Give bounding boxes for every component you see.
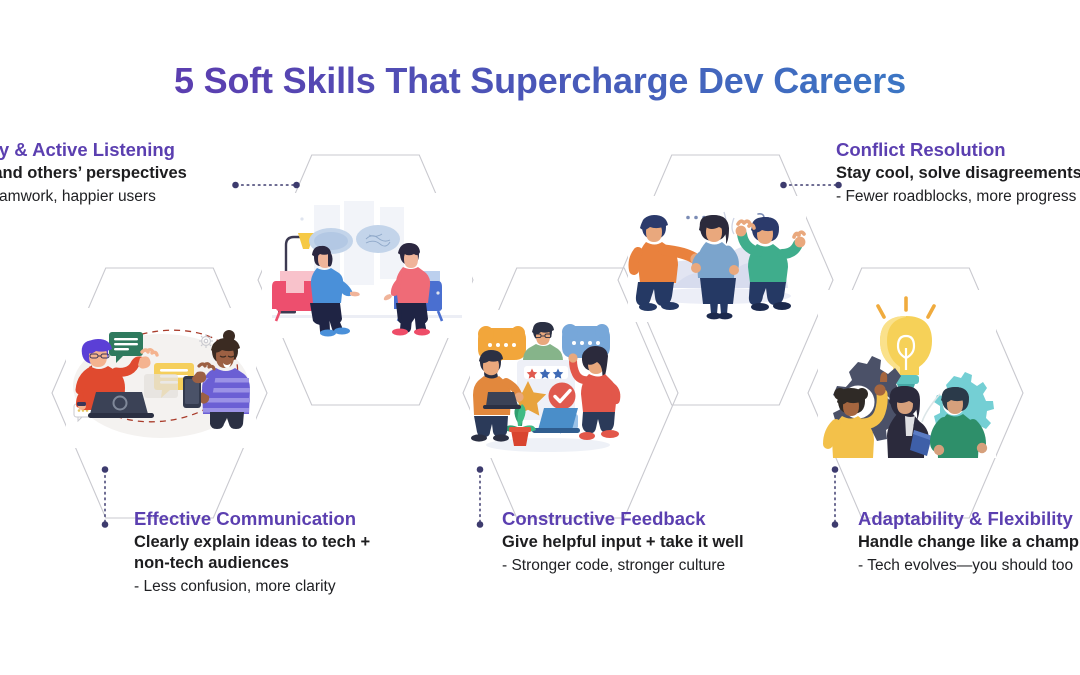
skill-block-empathy: Empathy & Active Listening Understand ot… bbox=[0, 139, 231, 206]
connector-feedback bbox=[473, 466, 487, 528]
skill-block-communication: Effective Communication Clearly explain … bbox=[134, 508, 434, 596]
skill-block-feedback: Constructive Feedback Give helpful input… bbox=[502, 508, 802, 575]
skill-sub-adaptability: - Tech evolves—you should too bbox=[858, 556, 1080, 575]
skill-heading-adaptability: Adaptability & Flexibility bbox=[858, 508, 1080, 530]
connector-conflict bbox=[780, 178, 842, 192]
connector-adaptability bbox=[828, 466, 842, 528]
skill-main-feedback: Give helpful input + take it well bbox=[502, 532, 802, 553]
skill-main-empathy: Understand others’ perspectives bbox=[0, 163, 231, 184]
infographic-canvas: 5 Soft Skills That Supercharge Dev Caree… bbox=[0, 0, 1080, 675]
skill-main-adaptability: Handle change like a champ bbox=[858, 532, 1080, 553]
two-people-talking-armchairs-illustration bbox=[262, 193, 472, 338]
skill-sub-communication: - Less confusion, more clarity bbox=[134, 577, 434, 596]
gears-lightbulb-three-people-illustration bbox=[818, 290, 996, 458]
skill-heading-feedback: Constructive Feedback bbox=[502, 508, 802, 530]
skill-block-conflict: Conflict Resolution Stay cool, solve dis… bbox=[836, 139, 1080, 206]
connector-empathy bbox=[232, 178, 300, 192]
connector-communication bbox=[98, 466, 112, 528]
skill-heading-conflict: Conflict Resolution bbox=[836, 139, 1080, 161]
man-laptop-woman-phone-chat-bubbles-illustration bbox=[66, 308, 256, 448]
skill-heading-communication: Effective Communication bbox=[134, 508, 434, 530]
skill-main-conflict: Stay cool, solve disagreements bbox=[836, 163, 1080, 184]
skill-sub-empathy: - Better teamwork, happier users bbox=[0, 187, 231, 206]
skill-main-communication-line2: non-tech audiences bbox=[134, 553, 434, 574]
skill-heading-empathy: Empathy & Active Listening bbox=[0, 139, 231, 161]
review-stars-checkmark-feedback-illustration bbox=[470, 310, 626, 458]
skill-sub-feedback: - Stronger code, stronger culture bbox=[502, 556, 802, 575]
skill-block-adaptability: Adaptability & Flexibility Handle change… bbox=[858, 508, 1080, 575]
three-people-mediation-illustration bbox=[628, 196, 806, 322]
skill-sub-conflict: - Fewer roadblocks, more progress bbox=[836, 187, 1080, 206]
skill-main-communication-line1: Clearly explain ideas to tech + bbox=[134, 532, 434, 553]
